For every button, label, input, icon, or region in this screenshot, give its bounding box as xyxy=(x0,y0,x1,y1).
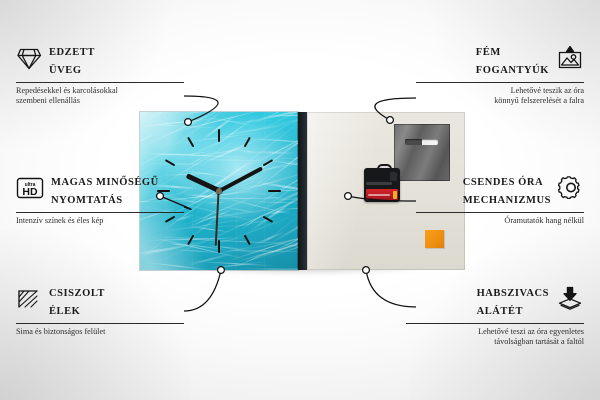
polished-edges-icon xyxy=(16,287,42,316)
callout-title-line1: MAGAS MINŐSÉGŰ xyxy=(51,177,159,188)
callout-desc-line1: Sima és biztonságos felület xyxy=(16,327,184,337)
mechanism-shaft xyxy=(390,172,397,181)
diamond-icon xyxy=(16,46,42,75)
foam-pad-icon xyxy=(556,286,584,316)
clock-glass-edge xyxy=(298,112,307,270)
callout-divider xyxy=(16,323,184,324)
callout-desc-line2: szembeni ellenállás xyxy=(16,96,184,106)
callout-divider xyxy=(416,82,584,83)
callout-divider xyxy=(16,212,184,213)
callout-title: FÉM FOGANTYÚK xyxy=(476,42,549,78)
callout-desc-line1: Óramutatók hang nélkül xyxy=(416,216,584,226)
foam-spacer-pad xyxy=(425,230,444,248)
callout-desc-line1: Lehetővé teszik az óra xyxy=(416,86,584,96)
callout-heading: CSISZOLT ÉLEK xyxy=(16,283,184,319)
callout-title-line2: ÜVEG xyxy=(49,65,82,76)
feature-callout-csiszolt-elek: CSISZOLT ÉLEK Sima és biztonságos felüle… xyxy=(16,283,184,337)
clock-mechanism xyxy=(364,164,400,202)
callout-title-line2: MECHANIZMUS xyxy=(463,195,551,206)
callout-heading: FÉM FOGANTYÚK xyxy=(416,42,584,78)
callout-title: CSISZOLT ÉLEK xyxy=(49,283,105,319)
callout-title-line1: FÉM xyxy=(476,47,501,58)
callout-title-line1: EDZETT xyxy=(49,47,95,58)
feature-callout-csendes-ora-mechanizmus: CSENDES ÓRA MECHANIZMUS Óramutatók hang … xyxy=(416,172,584,226)
clock-tick xyxy=(218,129,220,191)
feature-callout-habszivacs-alatet: HABSZIVACS ALÁTÉT Lehetővé teszi az óra … xyxy=(406,283,584,348)
callout-heading: HABSZIVACS ALÁTÉT xyxy=(406,283,584,319)
callout-title: MAGAS MINŐSÉGŰ NYOMTATÁS xyxy=(51,172,159,208)
callout-title-line2: ÉLEK xyxy=(49,306,80,317)
callout-title-line1: CSISZOLT xyxy=(49,288,105,299)
feature-callout-fem-fogantyuk: FÉM FOGANTYÚK Lehetővé teszik az óra kön… xyxy=(416,42,584,107)
battery xyxy=(366,189,398,200)
callout-divider xyxy=(16,82,184,83)
feature-callout-edzett-uveg: EDZETT ÜVEG Repedésekkel és karcolásokka… xyxy=(16,42,184,107)
callout-desc-line1: Repedésekkel és karcolásokkal xyxy=(16,86,184,96)
callout-title-line2: NYOMTATÁS xyxy=(51,195,123,206)
callout-title: HABSZIVACS ALÁTÉT xyxy=(477,283,549,319)
ultra-hd-text-bottom: HD xyxy=(22,186,38,198)
callout-heading: CSENDES ÓRA MECHANIZMUS xyxy=(416,172,584,208)
callout-title-line2: ALÁTÉT xyxy=(477,306,523,317)
callout-desc-line1: Intenzív színek és éles kép xyxy=(16,216,184,226)
callout-title-line1: HABSZIVACS xyxy=(477,288,549,299)
mechanism-slot xyxy=(366,182,392,185)
hanger-slot xyxy=(405,139,438,145)
callout-title: EDZETT ÜVEG xyxy=(49,42,95,78)
callout-title: CSENDES ÓRA MECHANIZMUS xyxy=(463,172,551,208)
callout-title-line1: CSENDES ÓRA xyxy=(463,177,543,188)
infographic-canvas: EDZETT ÜVEG Repedésekkel és karcolásokka… xyxy=(0,0,600,400)
callout-divider xyxy=(406,323,584,324)
callout-heading: EDZETT ÜVEG xyxy=(16,42,184,78)
feature-callout-magas-minosegu-nyomtatas: ultra HD MAGAS MINŐSÉGŰ NYOMTATÁS Intenz… xyxy=(16,172,184,226)
callout-desc-line1: Lehetővé teszi az óra egyenletes xyxy=(406,327,584,337)
picture-hanger-icon xyxy=(556,45,584,76)
clock-center-cap xyxy=(216,188,222,194)
ultra-hd-icon: ultra HD xyxy=(16,176,44,205)
clock-tick xyxy=(219,190,281,192)
callout-desc-line2: távolságban tartását a faltól xyxy=(406,337,584,347)
gear-icon xyxy=(558,175,584,205)
callout-title-line2: FOGANTYÚK xyxy=(476,65,549,76)
callout-heading: ultra HD MAGAS MINŐSÉGŰ NYOMTATÁS xyxy=(16,172,184,208)
callout-desc-line2: könnyű felszerelését a falra xyxy=(416,96,584,106)
callout-divider xyxy=(416,212,584,213)
